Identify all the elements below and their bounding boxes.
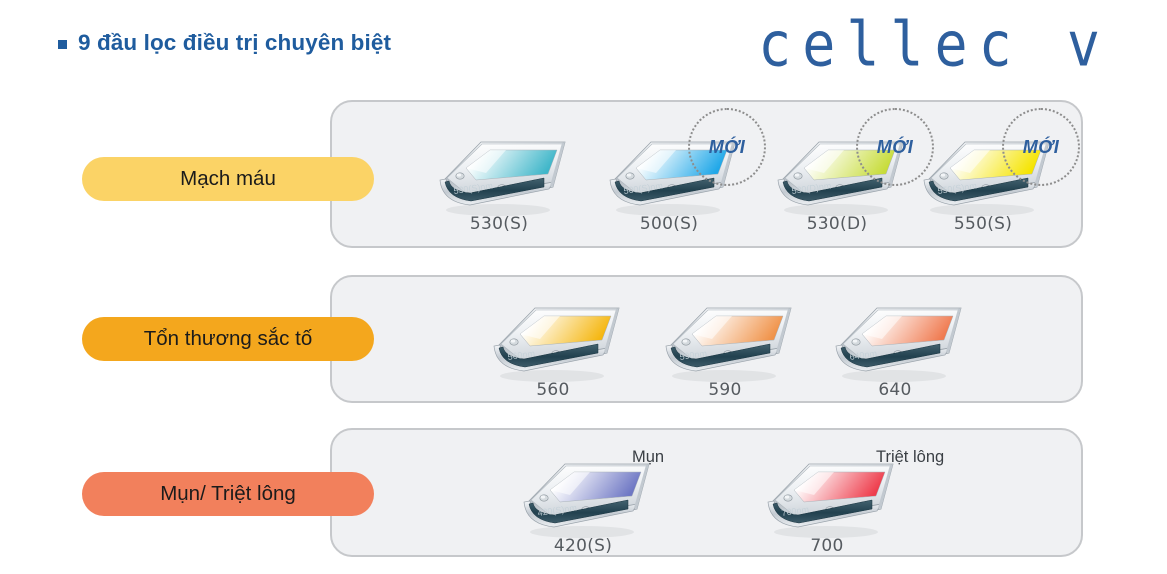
filter-annotation: Triệt lông: [876, 448, 944, 467]
brand-logo: cellec v: [758, 14, 1111, 76]
slide-header: 9 đầu lọc điều trị chuyên biệt cellec v: [0, 0, 1167, 92]
category-pill-label: Mạch máu: [180, 167, 276, 191]
filter-image: 590nm: [650, 296, 800, 384]
category-panel: [330, 428, 1083, 557]
new-badge-label: MỚI: [690, 110, 764, 184]
filter-cartridge-icon: 640nm: [820, 296, 970, 384]
category-pill-1[interactable]: Tổn thương sắc tố: [82, 317, 374, 361]
category-pill-0[interactable]: Mạch máu: [82, 157, 374, 201]
category-pill-label: Mụn/ Triệt lông: [160, 482, 296, 506]
filter-caption: 560: [478, 380, 628, 400]
filter-caption: 590: [650, 380, 800, 400]
category-pill-label: Tổn thương sắc tố: [144, 327, 312, 351]
new-badge: MỚI: [856, 108, 934, 186]
square-bullet-icon: [58, 40, 67, 49]
filter-annotation: Mụn: [632, 448, 664, 467]
filter-caption: 640: [820, 380, 970, 400]
filter-cartridge-icon: 590nm: [650, 296, 800, 384]
filter-image: 560nm: [478, 296, 628, 384]
new-badge: MỚI: [688, 108, 766, 186]
page-title-label: 9 đầu lọc điều trị chuyên biệt: [78, 30, 391, 56]
filter-caption: 550(S): [908, 214, 1058, 234]
filter-cartridge-icon: 530(S)nm: [424, 130, 574, 218]
new-badge: MỚI: [1002, 108, 1080, 186]
category-pill-2[interactable]: Mụn/ Triệt lông: [82, 472, 374, 516]
filter-caption: 500(S): [594, 214, 744, 234]
filter-caption: 530(D): [762, 214, 912, 234]
new-badge-label: MỚI: [1004, 110, 1078, 184]
filter-caption: 420(S): [508, 536, 658, 556]
filter-image: 640nm: [820, 296, 970, 384]
slide-root: 9 đầu lọc điều trị chuyên biệt cellec v …: [0, 0, 1167, 574]
page-title: 9 đầu lọc điều trị chuyên biệt: [58, 30, 391, 56]
filter-caption: 530(S): [424, 214, 574, 234]
filter-cartridge-icon: 560nm: [478, 296, 628, 384]
filter-image: 530(S)nm: [424, 130, 574, 218]
new-badge-label: MỚI: [858, 110, 932, 184]
filter-caption: 700: [752, 536, 902, 556]
